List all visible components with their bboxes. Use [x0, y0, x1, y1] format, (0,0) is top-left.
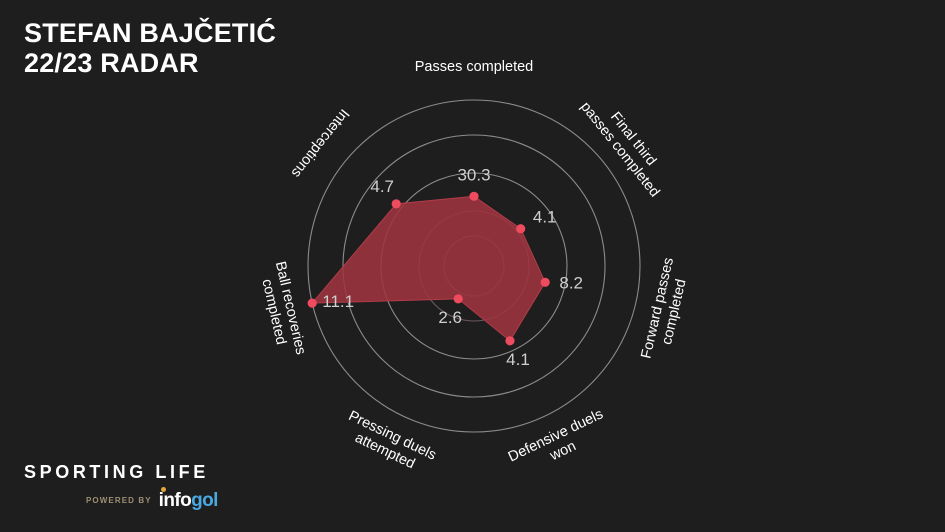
series-polygon	[312, 196, 545, 340]
axis-label-line: Passes completed	[415, 59, 533, 75]
powered-by-label: POWERED BY	[86, 496, 152, 505]
infogol-logo: infogol	[159, 491, 218, 510]
powered-by-row: POWERED BY infogol	[86, 491, 218, 510]
value-label: 2.6	[438, 308, 462, 327]
axis-label-interceptions: Interceptions	[288, 106, 352, 181]
series-data-point	[469, 192, 478, 201]
radar-infographic: STEFAN BAJČETIĆ 22/23 RADAR 30.34.18.24.…	[0, 0, 945, 532]
series-data-point	[308, 299, 317, 308]
axis-label-defensive-duels-won: Defensive duelswon	[506, 406, 613, 480]
axis-label-line: Interceptions	[288, 106, 352, 181]
infogol-info-text: info	[159, 490, 191, 511]
axis-label-forward-passes-completed: Forward passescompleted	[638, 256, 693, 364]
value-label: 8.2	[559, 273, 583, 292]
infogol-dot-icon	[161, 487, 166, 492]
axis-label-passes-completed: Passes completed	[415, 59, 533, 75]
radar-chart: 30.34.18.24.12.611.14.7 Passes completed…	[0, 0, 945, 532]
brand-name: SPORTING LIFE	[24, 462, 218, 483]
axis-label-pressing-duels-attempted: Pressing duelsattempted	[339, 408, 439, 479]
value-label: 11.1	[322, 292, 354, 311]
radar-series	[312, 196, 545, 340]
value-label: 30.3	[457, 165, 490, 184]
value-label: 4.1	[533, 208, 557, 227]
value-label: 4.1	[506, 350, 530, 369]
series-data-point	[454, 294, 463, 303]
infogol-gol-text: gol	[191, 490, 218, 511]
axis-label-ball-recoveries-completed: Ball recoveriescompleted	[255, 260, 308, 360]
series-data-point	[541, 278, 550, 287]
series-data-point	[392, 199, 401, 208]
value-label: 4.7	[370, 177, 394, 196]
series-data-point	[505, 336, 514, 345]
series-data-point	[516, 224, 525, 233]
footer-logo: SPORTING LIFE POWERED BY infogol	[24, 462, 218, 510]
axis-label-final-third-passes-completed: Final thirdpasses completed	[577, 88, 676, 200]
